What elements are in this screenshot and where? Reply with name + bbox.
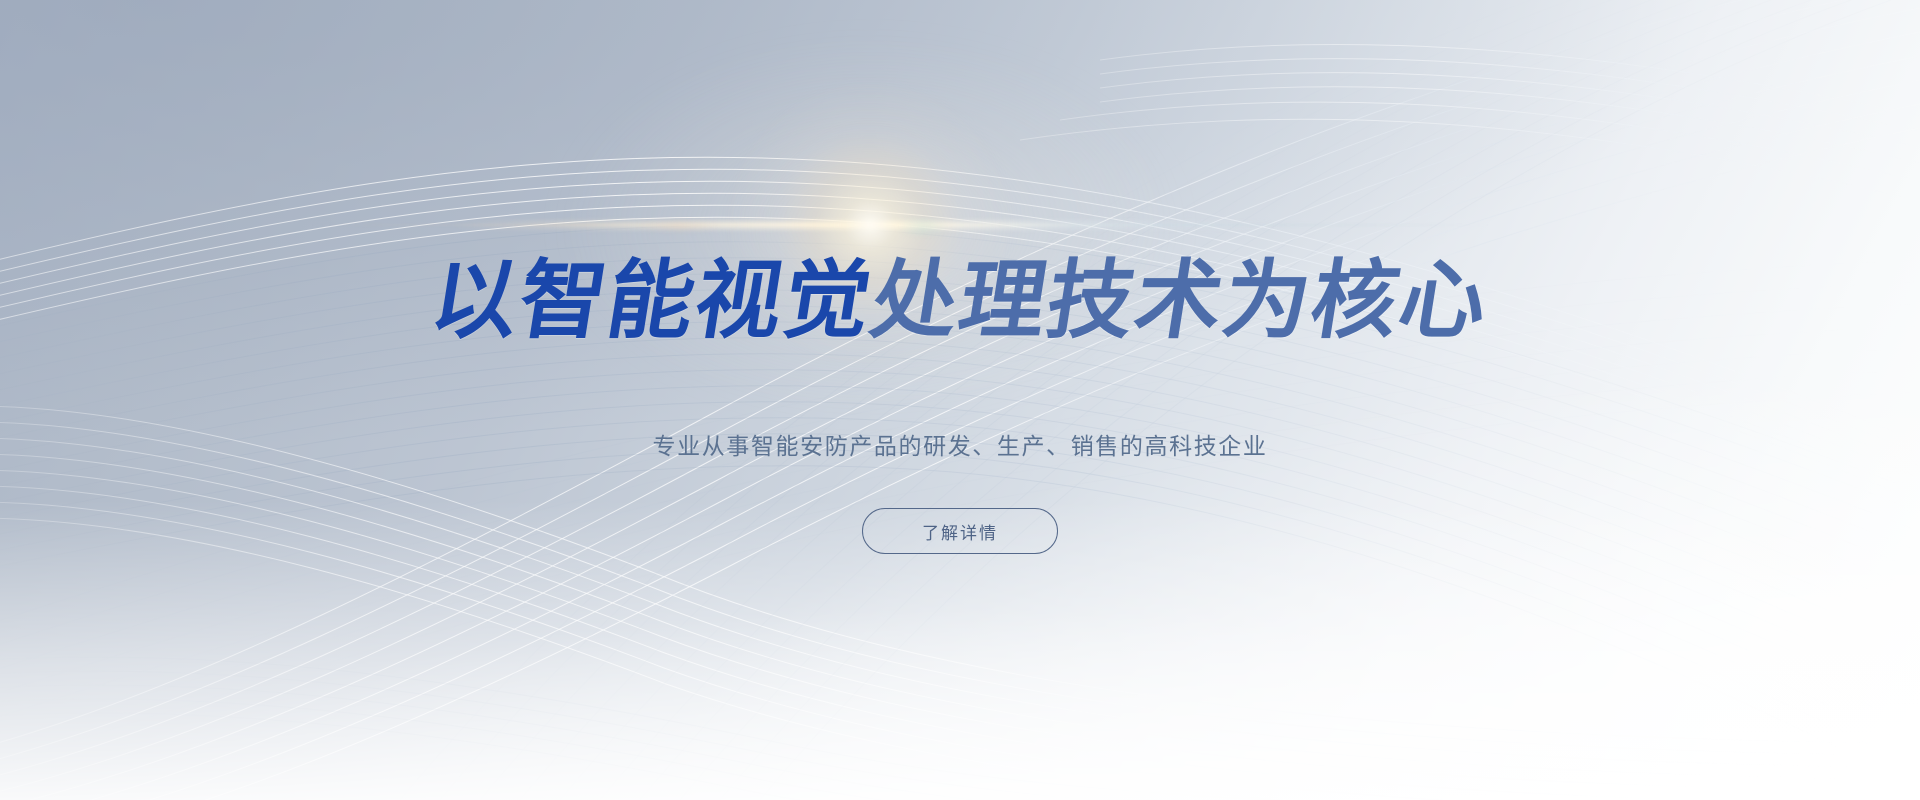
cta-container: 了解详情 <box>0 508 1920 554</box>
hero-banner: 以智能视觉处理技术为核心 专业从事智能安防产品的研发、生产、销售的高科技企业 了… <box>0 0 1920 800</box>
hero-subtitle: 专业从事智能安防产品的研发、生产、销售的高科技企业 <box>0 427 1920 461</box>
headline-strong: 以智能视觉 <box>424 251 880 351</box>
headline-soft: 处理技术为核心 <box>864 251 1496 351</box>
learn-more-button[interactable]: 了解详情 <box>862 508 1058 554</box>
page-title: 以智能视觉处理技术为核心 <box>0 258 1920 344</box>
hero-content: 以智能视觉处理技术为核心 专业从事智能安防产品的研发、生产、销售的高科技企业 了… <box>0 0 1920 800</box>
